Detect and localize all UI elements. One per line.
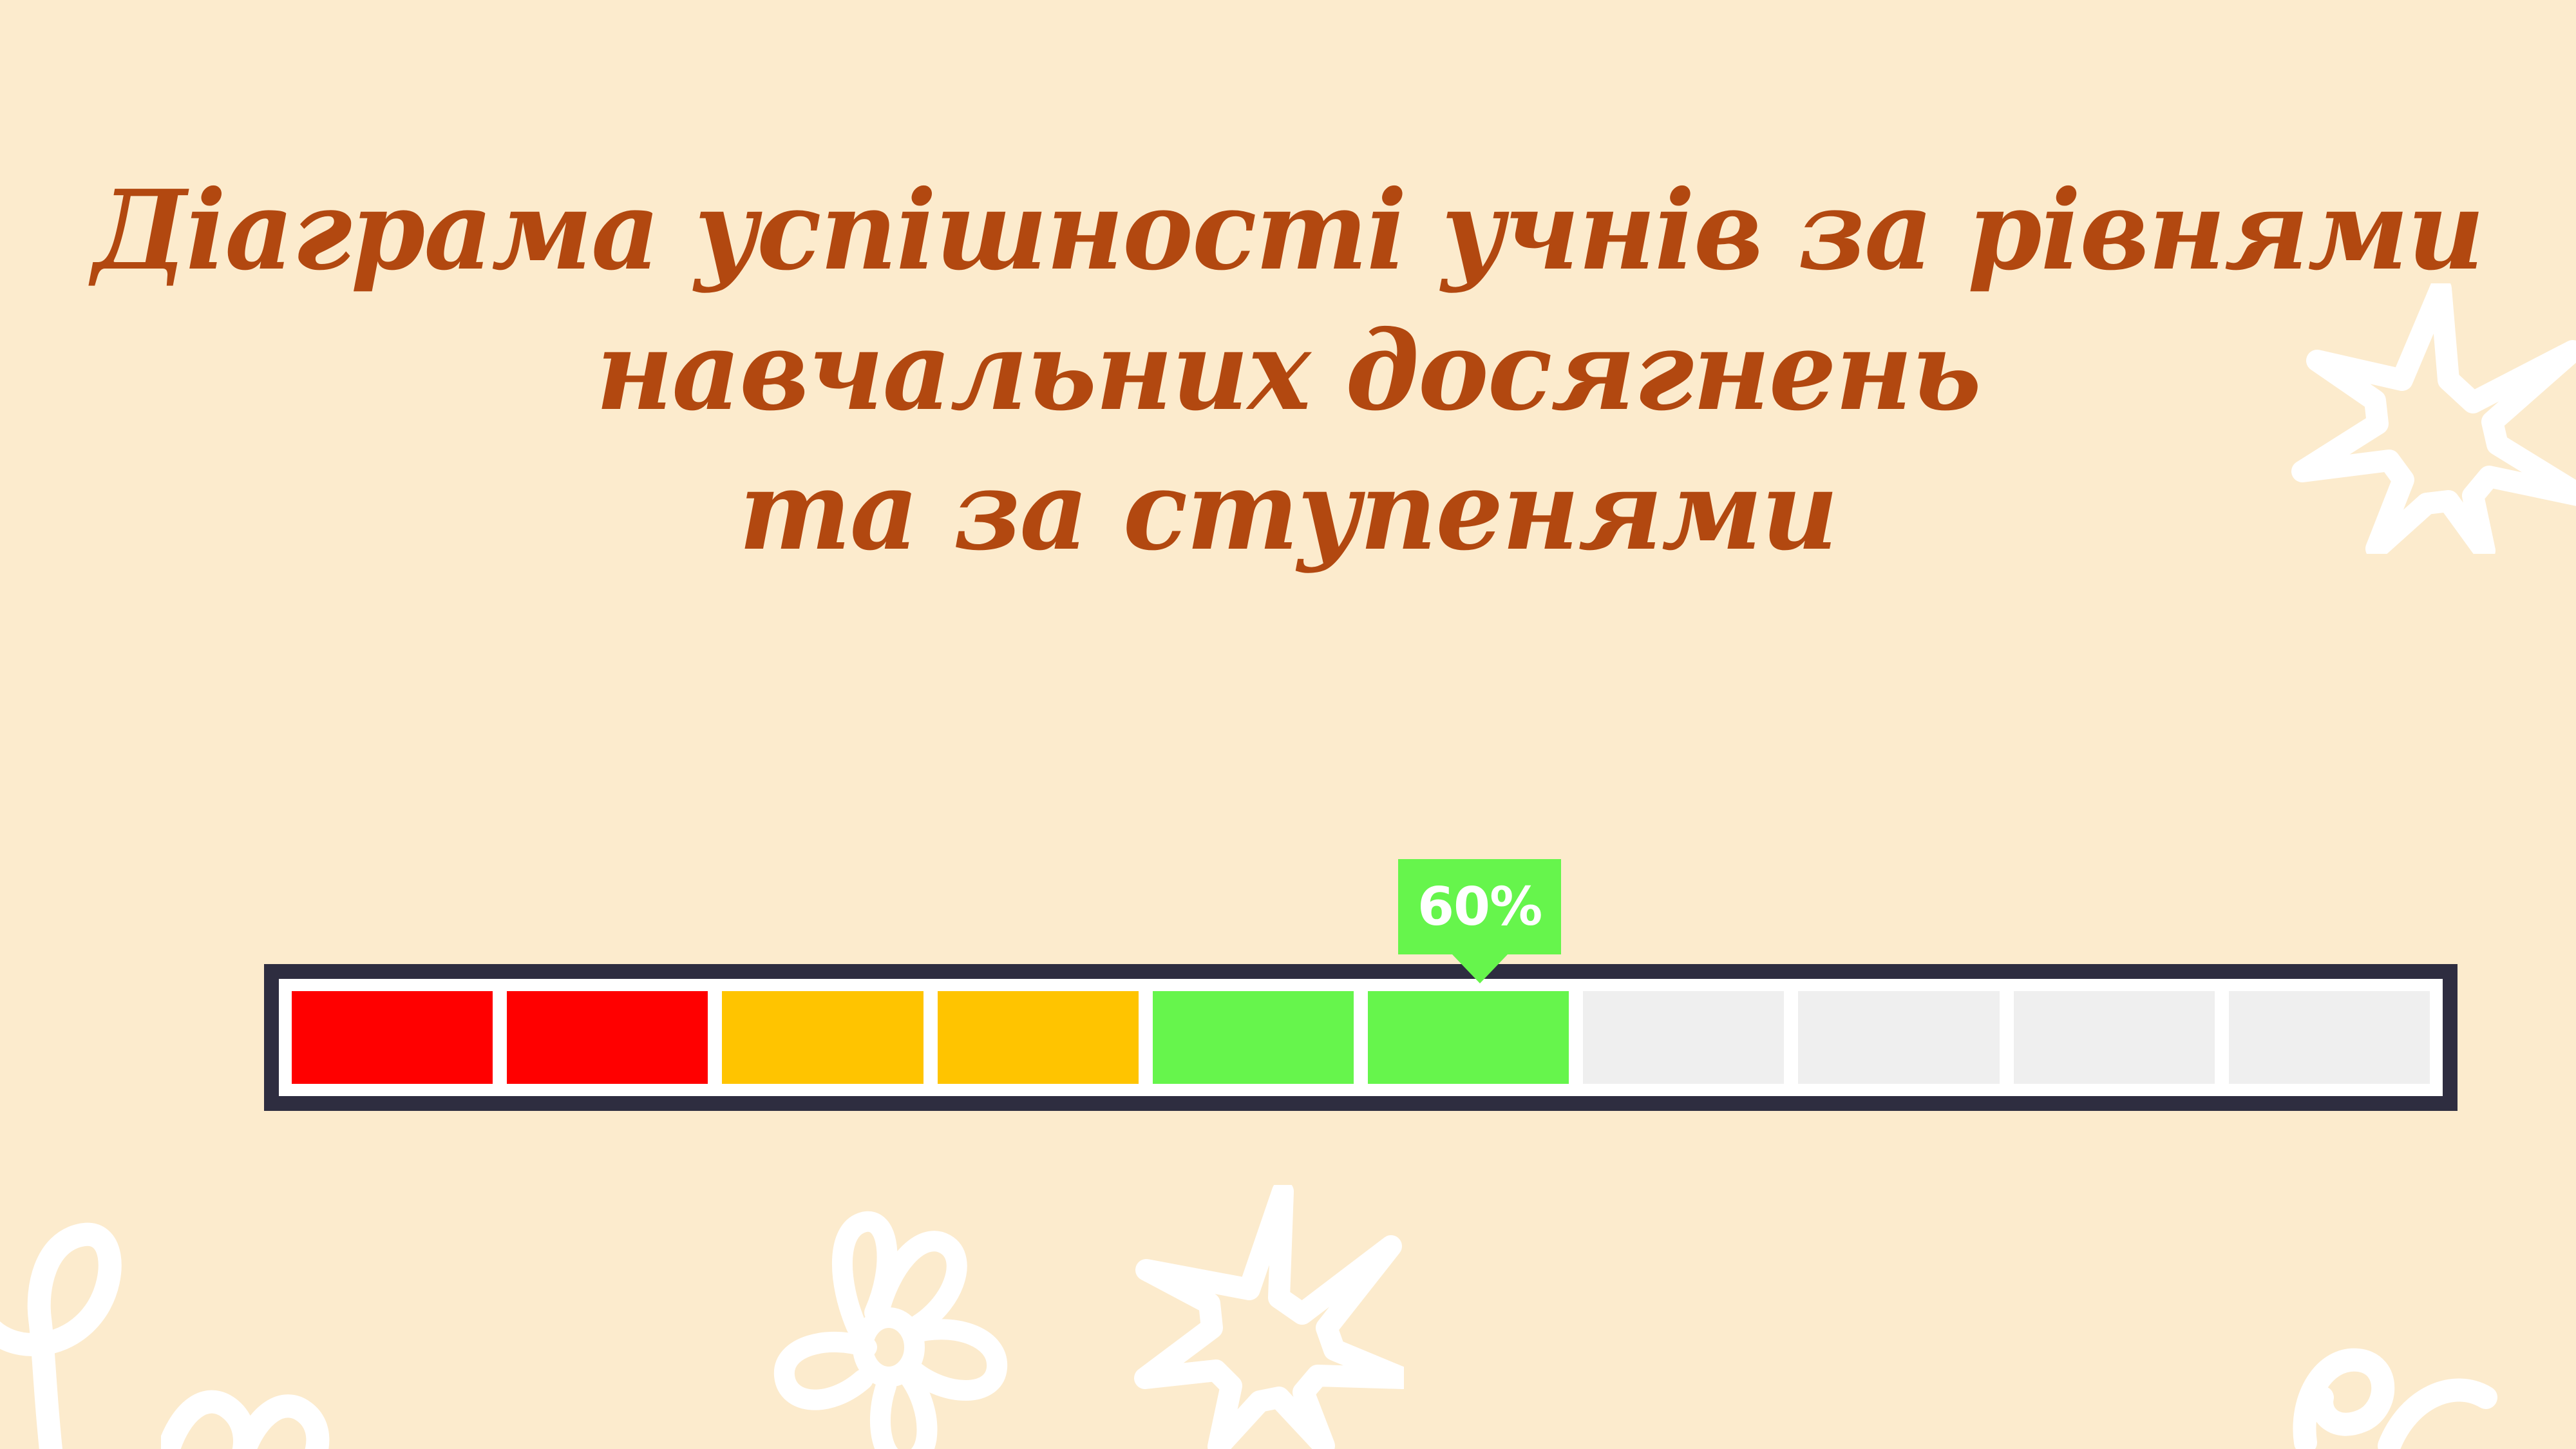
- flower-bottom-center-icon: [760, 1204, 1043, 1449]
- progress-segment-10[interactable]: [2229, 991, 2430, 1084]
- page-title: Діаграма успішності учнів за рівнями нав…: [0, 161, 2576, 582]
- badge-pointer-icon: [1452, 954, 1508, 983]
- progress-segment-7[interactable]: [1583, 991, 1784, 1084]
- squiggle-bottom-left-icon: [161, 1346, 470, 1449]
- star-bottom-center-icon: [1133, 1185, 1404, 1449]
- title-line-2: навчальних досягнень: [39, 301, 2537, 442]
- progress-value-badge: 60%: [1398, 859, 1561, 983]
- progress-segment-1[interactable]: [292, 991, 493, 1084]
- progress-segment-5[interactable]: [1153, 991, 1354, 1084]
- progress-segment-8[interactable]: [1798, 991, 1999, 1084]
- squiggle-bottom-right-icon: [2293, 1301, 2576, 1449]
- progress-segment-track: [292, 991, 2430, 1084]
- progress-value-label: 60%: [1398, 859, 1561, 954]
- progress-segment-9[interactable]: [2014, 991, 2215, 1084]
- progress-segment-2[interactable]: [507, 991, 708, 1084]
- title-line-3: та за ступенями: [39, 441, 2537, 582]
- progress-segment-6[interactable]: [1368, 991, 1569, 1084]
- progress-segment-3[interactable]: [722, 991, 923, 1084]
- progress-segment-4[interactable]: [938, 991, 1139, 1084]
- progress-bar-frame: [264, 964, 2458, 1111]
- loop-bottom-left-icon: [0, 1204, 245, 1449]
- title-line-1: Діаграма успішності учнів за рівнями: [39, 161, 2537, 301]
- slide-canvas: Діаграма успішності учнів за рівнями нав…: [0, 0, 2576, 1449]
- progress-bar[interactable]: [264, 964, 2458, 1111]
